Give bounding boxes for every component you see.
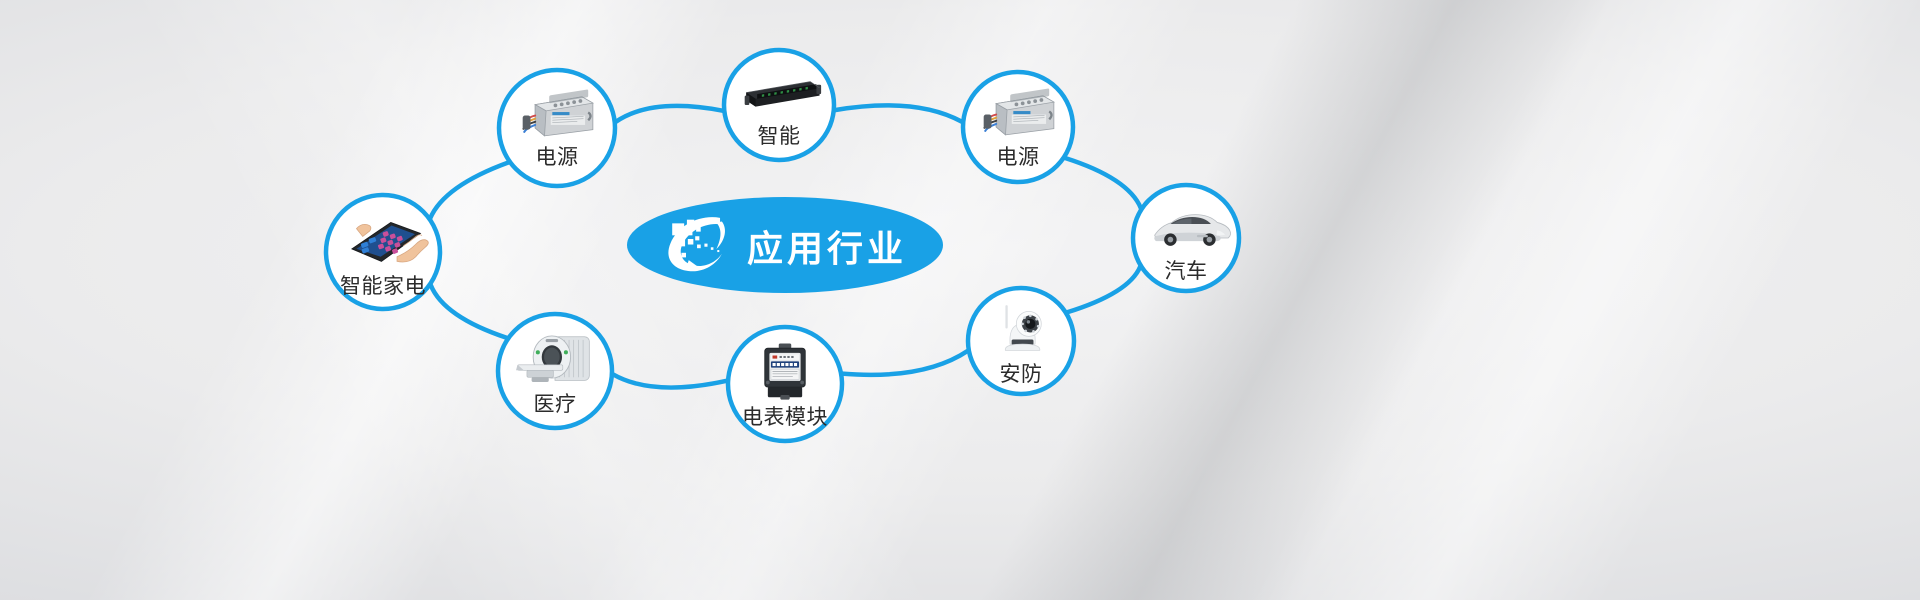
connector-automotive-to-security bbox=[1067, 267, 1140, 313]
node-ring-smart[interactable] bbox=[724, 50, 834, 160]
node-smart[interactable] bbox=[724, 50, 834, 160]
connector-smart-home-to-power-left bbox=[430, 162, 509, 218]
connector-power-left-to-smart bbox=[616, 106, 724, 122]
connector-power-right-to-automotive bbox=[1065, 158, 1141, 208]
node-network-svg bbox=[0, 0, 1920, 600]
connector-security-to-meter-module bbox=[842, 351, 968, 375]
application-industries-diagram: 电源智能电源汽车安防电表模块医疗智能家电 应用行业 bbox=[0, 0, 1920, 600]
connector-medical-to-smart-home bbox=[431, 285, 508, 338]
node-power-left[interactable] bbox=[499, 70, 615, 186]
node-meter-module[interactable] bbox=[728, 327, 842, 441]
node-smart-home[interactable] bbox=[326, 195, 440, 309]
connector-meter-module-to-medical bbox=[613, 374, 727, 387]
electric-meter-image bbox=[765, 343, 806, 399]
node-medical[interactable] bbox=[498, 314, 612, 428]
center-badge[interactable] bbox=[627, 197, 943, 293]
node-security[interactable] bbox=[968, 288, 1074, 394]
node-automotive[interactable] bbox=[1133, 185, 1239, 291]
connector-smart-to-power-right bbox=[835, 105, 962, 122]
node-power-right[interactable] bbox=[963, 72, 1073, 182]
